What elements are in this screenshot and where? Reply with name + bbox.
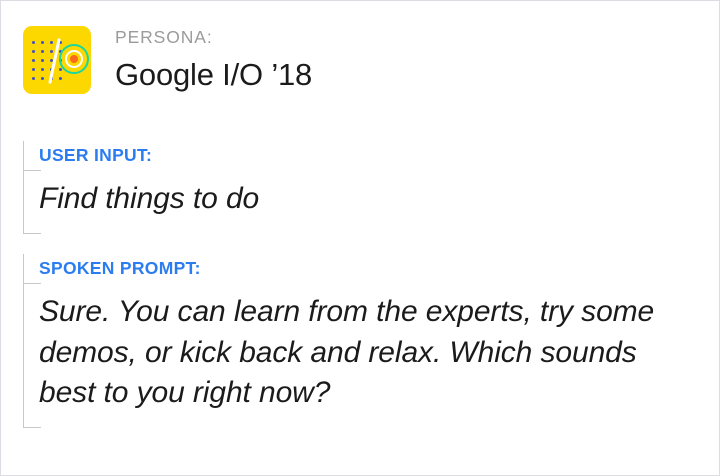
section-label-bracket: SPOKEN PROMPT: (23, 254, 699, 284)
section-label-user-input: USER INPUT: (39, 147, 152, 165)
section-label-spoken-prompt: SPOKEN PROMPT: (39, 260, 201, 278)
logo-core-dot-icon (70, 55, 78, 63)
persona-card: PERSONA: Google I/O ’18 USER INPUT: Find… (0, 0, 720, 476)
logo-dot (50, 41, 53, 44)
section-body-bracket: Sure. You can learn from the experts, tr… (23, 284, 699, 428)
logo-dot (32, 50, 35, 53)
section-body-spoken-prompt: Sure. You can learn from the experts, tr… (39, 292, 699, 414)
logo-dot (32, 68, 35, 71)
logo-dot (41, 50, 44, 53)
logo-dot (41, 41, 44, 44)
section-user-input: USER INPUT: Find things to do (23, 141, 359, 234)
logo-dot (32, 59, 35, 62)
logo-dot (41, 77, 44, 80)
logo-dot (50, 50, 53, 53)
section-spoken-prompt: SPOKEN PROMPT: Sure. You can learn from … (23, 254, 699, 428)
logo-dot (59, 77, 62, 80)
logo-dot (41, 68, 44, 71)
section-body-bracket: Find things to do (23, 171, 359, 234)
page-title: Google I/O ’18 (115, 56, 312, 95)
logo-dot (41, 59, 44, 62)
persona-text-group: PERSONA: Google I/O ’18 (115, 26, 312, 95)
persona-header: PERSONA: Google I/O ’18 (23, 26, 312, 95)
logo-dot (32, 41, 35, 44)
google-io-logo-icon (23, 26, 91, 94)
section-body-user-input: Find things to do (39, 179, 359, 220)
section-label-bracket: USER INPUT: (23, 141, 359, 171)
logo-dot (32, 77, 35, 80)
persona-label: PERSONA: (115, 28, 312, 47)
